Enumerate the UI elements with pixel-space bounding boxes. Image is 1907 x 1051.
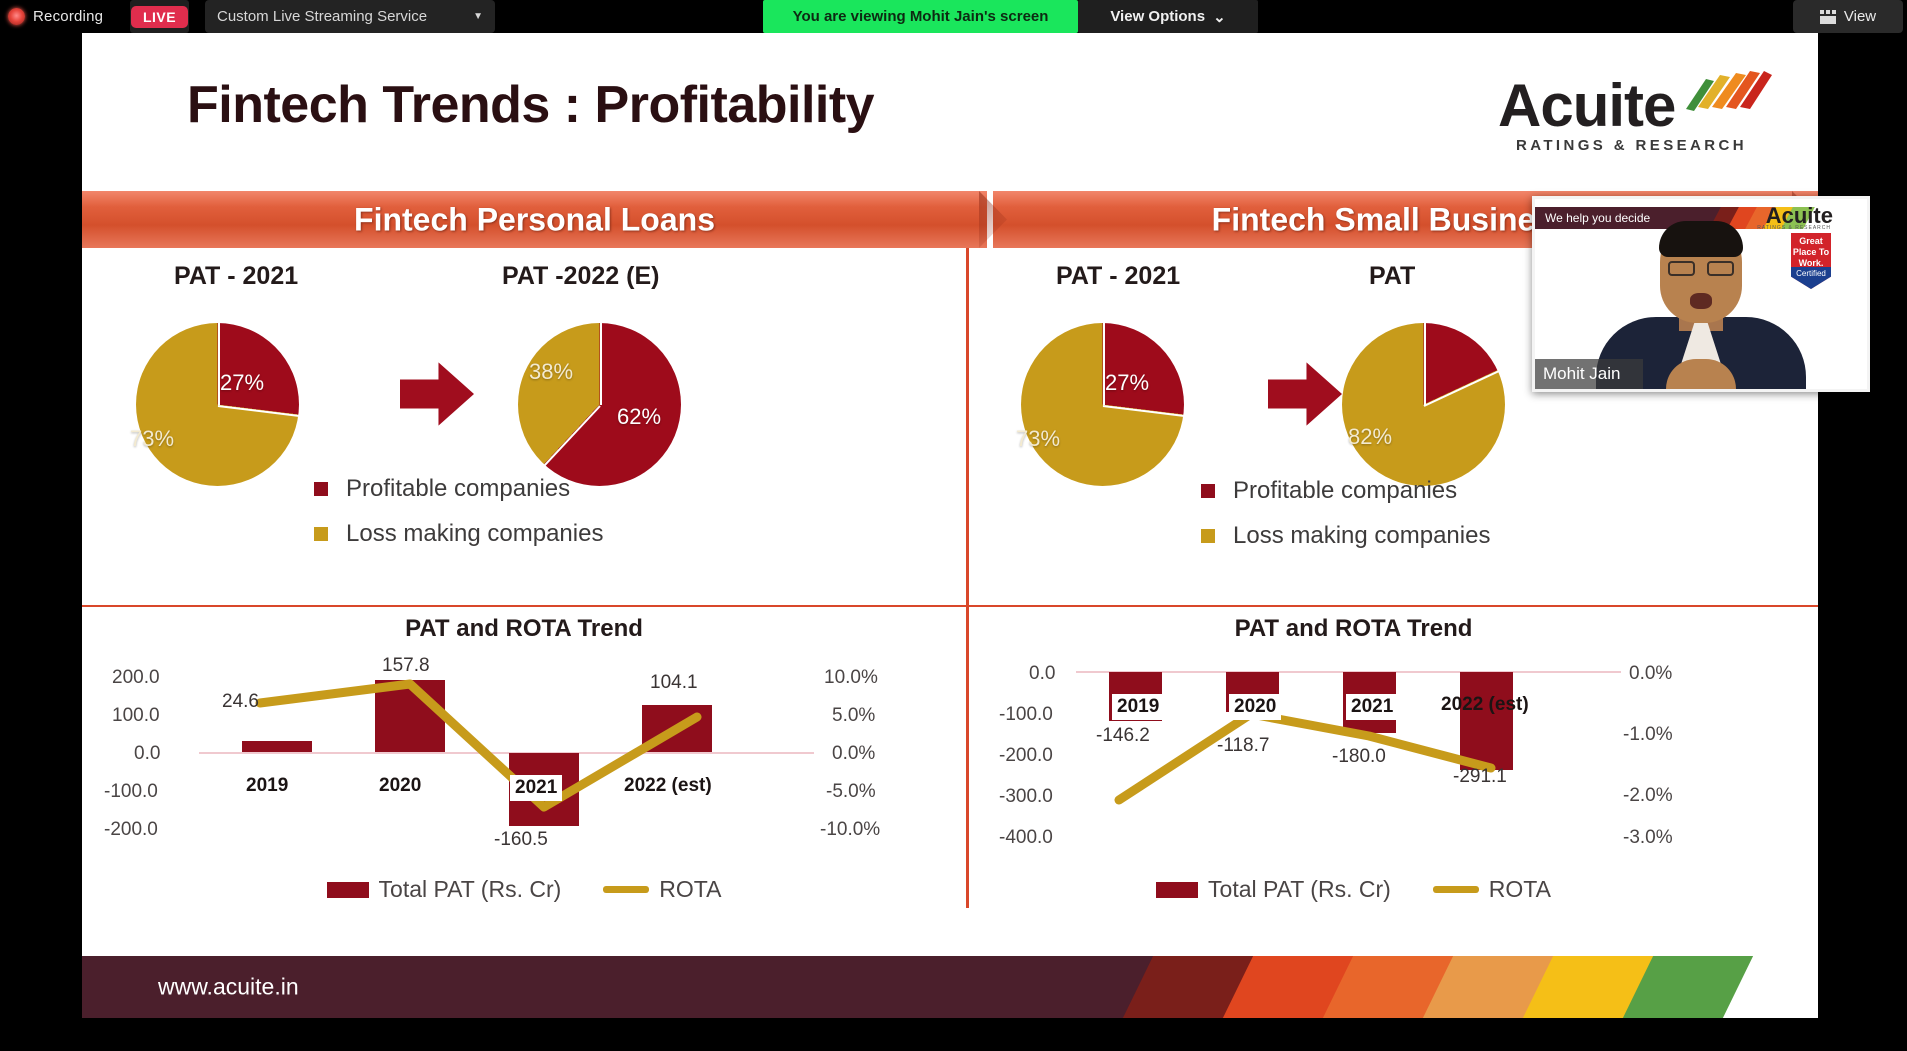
left-axis-tick-0: 200.0: [112, 667, 160, 689]
legend-swatch-profitable-icon: [314, 482, 328, 496]
pie-legend-left: Profitable companies Loss making compani…: [314, 475, 603, 565]
trend-legend-right: Total PAT (Rs. Cr) ROTA: [929, 876, 1778, 903]
pie-title-4: PAT: [1369, 262, 1415, 291]
trend-chart-small-business-loans: PAT and ROTA Trend 0.0 -100.0 -200.0 -30…: [969, 607, 1818, 907]
viewing-screen-text: You are viewing Mohit Jain's screen: [793, 8, 1049, 25]
right-chart-axis2-tick-1: -1.0%: [1623, 724, 1673, 746]
right-chart-axis2-tick-3: -3.0%: [1623, 827, 1673, 849]
pie-1-slice-loss-value: 73%: [130, 426, 174, 452]
right-chart-axis-tick-0: 0.0: [1029, 663, 1055, 685]
bar-value-2021-left: -160.5: [494, 829, 548, 851]
chevron-down-icon: ▼: [473, 11, 483, 22]
pie-title-2: PAT -2022 (E): [502, 262, 659, 291]
acuite-logo: Acuite RATINGS & RESEARCH: [1488, 65, 1758, 165]
trend-legend-swatch-rota-icon-2: [1433, 886, 1479, 893]
left-axis-tick-1: 100.0: [112, 705, 160, 727]
cat-2019-right: 2019: [1112, 694, 1164, 720]
pie-title-3: PAT - 2021: [1056, 262, 1180, 291]
logo-wordmark: Acuite: [1498, 71, 1675, 140]
trend-chart-personal-loans: PAT and ROTA Trend 200.0 100.0 0.0 -100.…: [82, 607, 966, 907]
participant-video-tile[interactable]: We help you decide Acuite RATINGS & RESE…: [1532, 196, 1870, 392]
left-axis-tick-4: -200.0: [104, 819, 158, 841]
pie-title-1: PAT - 2021: [174, 262, 298, 291]
right-chart-axis2-tick-0: 0.0%: [1629, 663, 1672, 685]
view-options-label: View Options: [1110, 8, 1205, 25]
legend-swatch-loss-icon: [314, 527, 328, 541]
zoom-toolbar: Recording LIVE Custom Live Streaming Ser…: [0, 0, 1907, 33]
layout-grid-icon: [1820, 10, 1836, 24]
legend-label-loss-2: Loss making companies: [1233, 522, 1490, 550]
legend-item-profitable-2: Profitable companies: [1201, 477, 1490, 505]
glasses-icon: [1668, 261, 1734, 276]
right-chart-axis2-tick-2: -2.0%: [1623, 785, 1673, 807]
stream-service-dropdown[interactable]: Custom Live Streaming Service ▼: [205, 0, 495, 33]
bar-2022-left: [642, 705, 712, 752]
legend-label-loss: Loss making companies: [346, 520, 603, 548]
right-chart-axis-tick-1: -100.0: [999, 704, 1053, 726]
trend-legend-swatch-pat-icon: [327, 882, 369, 898]
cat-2019-left: 2019: [246, 775, 288, 797]
shared-slide: Fintech Trends : Profitability Acuite RA…: [82, 33, 1818, 1018]
cat-2021-left: 2021: [510, 775, 562, 801]
bar-2022-right: [1460, 672, 1513, 770]
view-label: View: [1844, 8, 1876, 25]
zero-baseline-left: [199, 752, 814, 754]
bar-value-2019-left: 24.6: [222, 691, 259, 713]
pie-2-slice-profitable-value: 62%: [617, 404, 661, 430]
bar-2019-left: [242, 741, 312, 752]
view-options-button[interactable]: View Options ⌄: [1078, 0, 1258, 33]
video-tagline: We help you decide: [1535, 211, 1650, 225]
trend-legend-label-pat-right: Total PAT (Rs. Cr): [1208, 876, 1391, 903]
right-chart-axis-tick-4: -400.0: [999, 827, 1053, 849]
logo-swoosh-icon: [1684, 69, 1774, 115]
cat-2020-left: 2020: [379, 775, 421, 797]
trend-legend-label-rota-right: ROTA: [1489, 876, 1551, 903]
cat-2021-right: 2021: [1346, 694, 1398, 720]
section-banner-left-label: Fintech Personal Loans: [82, 201, 987, 238]
legend-label-profitable-2: Profitable companies: [1233, 477, 1457, 505]
left-axis-tick-2: 0.0: [134, 743, 160, 765]
viewing-screen-banner: You are viewing Mohit Jain's screen: [763, 0, 1078, 33]
bar-value-2021-right: -180.0: [1332, 746, 1386, 768]
right-chart-axis-tick-2: -200.0: [999, 745, 1053, 767]
pie-2-slice-loss-value: 38%: [529, 359, 573, 385]
view-layout-button[interactable]: View: [1793, 0, 1903, 33]
pie-1-slice-profitable-value: 27%: [220, 370, 264, 396]
right-axis-tick-2: 0.0%: [832, 743, 875, 765]
right-axis-tick-3: -5.0%: [826, 781, 876, 803]
trend-title-left: PAT and ROTA Trend: [82, 615, 966, 643]
left-axis-tick-3: -100.0: [104, 781, 158, 803]
legend-item-profitable: Profitable companies: [314, 475, 603, 503]
bar-value-2020-left: 157.8: [382, 655, 430, 677]
participant-name-label: Mohit Jain: [1535, 359, 1643, 389]
pie-3-slice-profitable-value: 27%: [1105, 370, 1149, 396]
slide-header: Fintech Trends : Profitability Acuite RA…: [82, 33, 1818, 191]
bar-value-2019-right: -146.2: [1096, 725, 1150, 747]
pie-3-slice-loss-value: 73%: [1016, 426, 1060, 452]
screen-root: Recording LIVE Custom Live Streaming Ser…: [0, 0, 1907, 1051]
logo-tagline: RATINGS & RESEARCH: [1516, 137, 1747, 154]
right-chart-axis-tick-3: -300.0: [999, 786, 1053, 808]
trend-legend-label-pat-left: Total PAT (Rs. Cr): [379, 876, 562, 903]
trend-legend-left: Total PAT (Rs. Cr) ROTA: [82, 876, 966, 903]
legend-item-loss: Loss making companies: [314, 520, 603, 548]
footer-stripes: [1138, 956, 1818, 1018]
recording-indicator[interactable]: Recording: [0, 0, 100, 33]
trend-legend-item-rota-left: ROTA: [603, 876, 721, 903]
trend-legend-item-rota-right: ROTA: [1433, 876, 1551, 903]
pie-chart-4: [1342, 323, 1505, 486]
right-axis-tick-1: 5.0%: [832, 705, 875, 727]
trend-title-right: PAT and ROTA Trend: [929, 615, 1778, 643]
trend-legend-swatch-rota-icon: [603, 886, 649, 893]
pie-chart-3: [1021, 323, 1184, 486]
live-badge: LIVE: [131, 6, 188, 28]
slide-footer: www.acuite.in: [82, 956, 1818, 1018]
transition-arrow-icon: [400, 361, 474, 427]
trend-legend-label-rota-left: ROTA: [659, 876, 721, 903]
stream-service-label: Custom Live Streaming Service: [217, 8, 427, 25]
pie-chart-1: [136, 323, 299, 486]
bar-value-2022-left: 104.1: [650, 672, 698, 694]
trend-legend-item-pat-left: Total PAT (Rs. Cr): [327, 876, 562, 903]
pie-legend-right: Profitable companies Loss making compani…: [1201, 477, 1490, 567]
pie-4-slice-loss-value: 82%: [1348, 424, 1392, 450]
trend-legend-swatch-pat-icon-2: [1156, 882, 1198, 898]
legend-swatch-profitable-icon-2: [1201, 484, 1215, 498]
bar-value-2020-right: -118.7: [1217, 735, 1269, 757]
recording-label: Recording: [33, 8, 103, 25]
live-badge-container[interactable]: LIVE: [130, 0, 189, 33]
footer-url: www.acuite.in: [158, 974, 299, 1001]
cat-2020-right: 2020: [1229, 694, 1281, 720]
cat-2022-right: 2022 (est): [1441, 694, 1529, 716]
page-title: Fintech Trends : Profitability: [187, 75, 874, 135]
video-logo-tagline: RATINGS & RESEARCH: [1757, 225, 1831, 231]
record-dot-icon: [8, 8, 25, 25]
pie-panel-personal-loans: PAT - 2021 27% 73% PAT -2022 (E) 38% 62%…: [82, 248, 966, 605]
legend-item-loss-2: Loss making companies: [1201, 522, 1490, 550]
right-axis-tick-0: 10.0%: [824, 667, 878, 689]
bar-2020-left: [375, 680, 445, 752]
bar-value-2022-right: -291.1: [1453, 766, 1507, 788]
cat-2022-left: 2022 (est): [624, 775, 712, 797]
section-banner-left: Fintech Personal Loans: [82, 191, 987, 248]
transition-arrow-icon-2: [1268, 361, 1342, 427]
chevron-down-icon: ⌄: [1213, 8, 1226, 26]
legend-swatch-loss-icon-2: [1201, 529, 1215, 543]
right-axis-tick-4: -10.0%: [820, 819, 880, 841]
legend-label-profitable: Profitable companies: [346, 475, 570, 503]
trend-legend-item-pat-right: Total PAT (Rs. Cr): [1156, 876, 1391, 903]
